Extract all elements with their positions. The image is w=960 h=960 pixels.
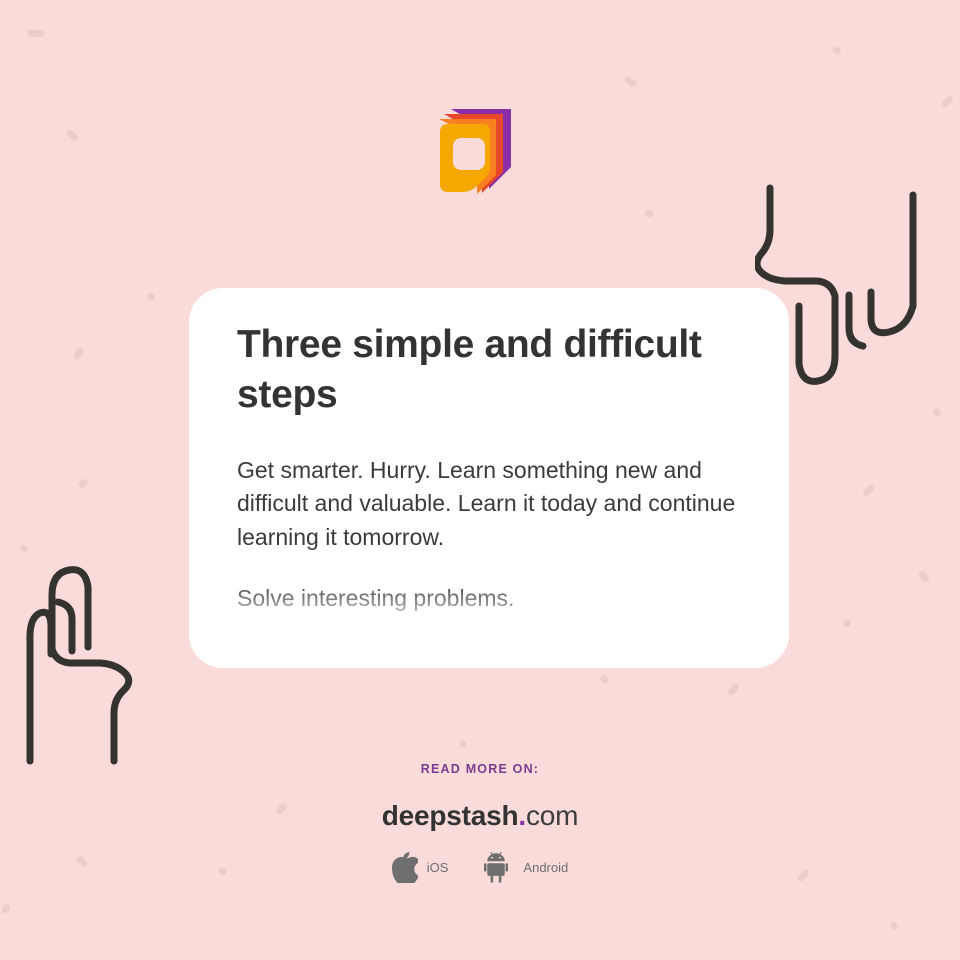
confetti-dot	[77, 477, 89, 489]
read-more-label: READ MORE ON:	[0, 762, 960, 776]
confetti-dot	[857, 341, 868, 352]
confetti-dot	[932, 407, 942, 417]
android-icon	[484, 852, 514, 883]
card-paragraph: Get smarter. Hurry. Learn something new …	[237, 454, 741, 554]
store-badge-android[interactable]: Android	[484, 852, 568, 883]
confetti-dot	[599, 674, 610, 685]
store-label-ios: iOS	[427, 860, 449, 875]
store-label-android: Android	[523, 860, 568, 875]
store-badges: iOS Android	[0, 852, 960, 883]
confetti-dot	[146, 291, 156, 301]
hand-pointing-up-icon	[26, 563, 206, 781]
card-title: Three simple and difficult steps	[237, 320, 737, 420]
apple-icon	[392, 852, 418, 883]
poster-canvas: Three simple and difficult steps Get sma…	[0, 0, 960, 960]
confetti-dot	[27, 30, 45, 38]
confetti-dot	[862, 483, 876, 497]
store-badge-ios[interactable]: iOS	[392, 852, 449, 883]
wordmark-tld: com	[526, 800, 578, 831]
deepstash-logo-icon	[427, 105, 519, 197]
confetti-dot	[842, 619, 852, 629]
confetti-dot	[0, 902, 11, 914]
confetti-dot	[727, 682, 741, 696]
wordmark-dot: .	[518, 800, 526, 831]
confetti-dot	[941, 94, 955, 108]
card-paragraph-truncated: Care. More.	[237, 643, 741, 668]
confetti-dot	[65, 128, 79, 142]
confetti-dot	[890, 921, 898, 930]
wordmark-brand: deepstash	[382, 800, 519, 831]
footer: READ MORE ON: deepstash.com iOS	[0, 762, 960, 883]
quote-card: Three simple and difficult steps Get sma…	[189, 288, 789, 668]
confetti-dot	[917, 570, 930, 584]
deepstash-wordmark[interactable]: deepstash.com	[0, 800, 960, 832]
confetti-dot	[832, 46, 842, 55]
confetti-dot	[623, 75, 637, 89]
confetti-dot	[19, 544, 29, 553]
card-paragraph: Solve interesting problems.	[237, 582, 741, 615]
confetti-dot	[72, 346, 85, 361]
confetti-dot	[644, 209, 654, 217]
confetti-dot	[459, 739, 468, 748]
